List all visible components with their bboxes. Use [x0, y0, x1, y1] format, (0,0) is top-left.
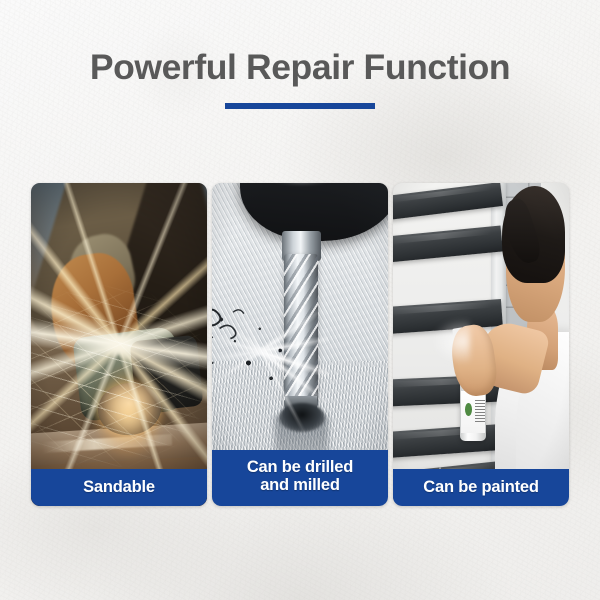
- caption-drilled-and-milled: Can be drilled and milled: [212, 450, 388, 506]
- feature-panel-sandable[interactable]: Sandable: [31, 183, 207, 506]
- feature-panel-painted[interactable]: Can be painted: [393, 183, 569, 506]
- caption-line: Can be drilled: [212, 458, 388, 476]
- grinder-sparks-image: [31, 183, 207, 506]
- p3-vignette: [393, 183, 569, 506]
- title-underline-rule: [225, 103, 375, 109]
- page-title: Powerful Repair Function: [0, 0, 600, 86]
- caption-line: and milled: [212, 476, 388, 494]
- promo-banner: Powerful Repair Function: [0, 0, 600, 600]
- spray-painting-image: [393, 183, 569, 506]
- header: Powerful Repair Function: [0, 0, 600, 109]
- caption-sandable: Sandable: [31, 469, 207, 506]
- caption-painted: Can be painted: [393, 469, 569, 506]
- feature-panels: Sandable: [31, 183, 569, 506]
- feature-panel-drilled-and-milled[interactable]: Can be drilled and milled: [212, 183, 388, 506]
- caption-line: Can be painted: [393, 478, 569, 496]
- caption-line: Sandable: [31, 478, 207, 496]
- p1-vignette: [31, 183, 207, 506]
